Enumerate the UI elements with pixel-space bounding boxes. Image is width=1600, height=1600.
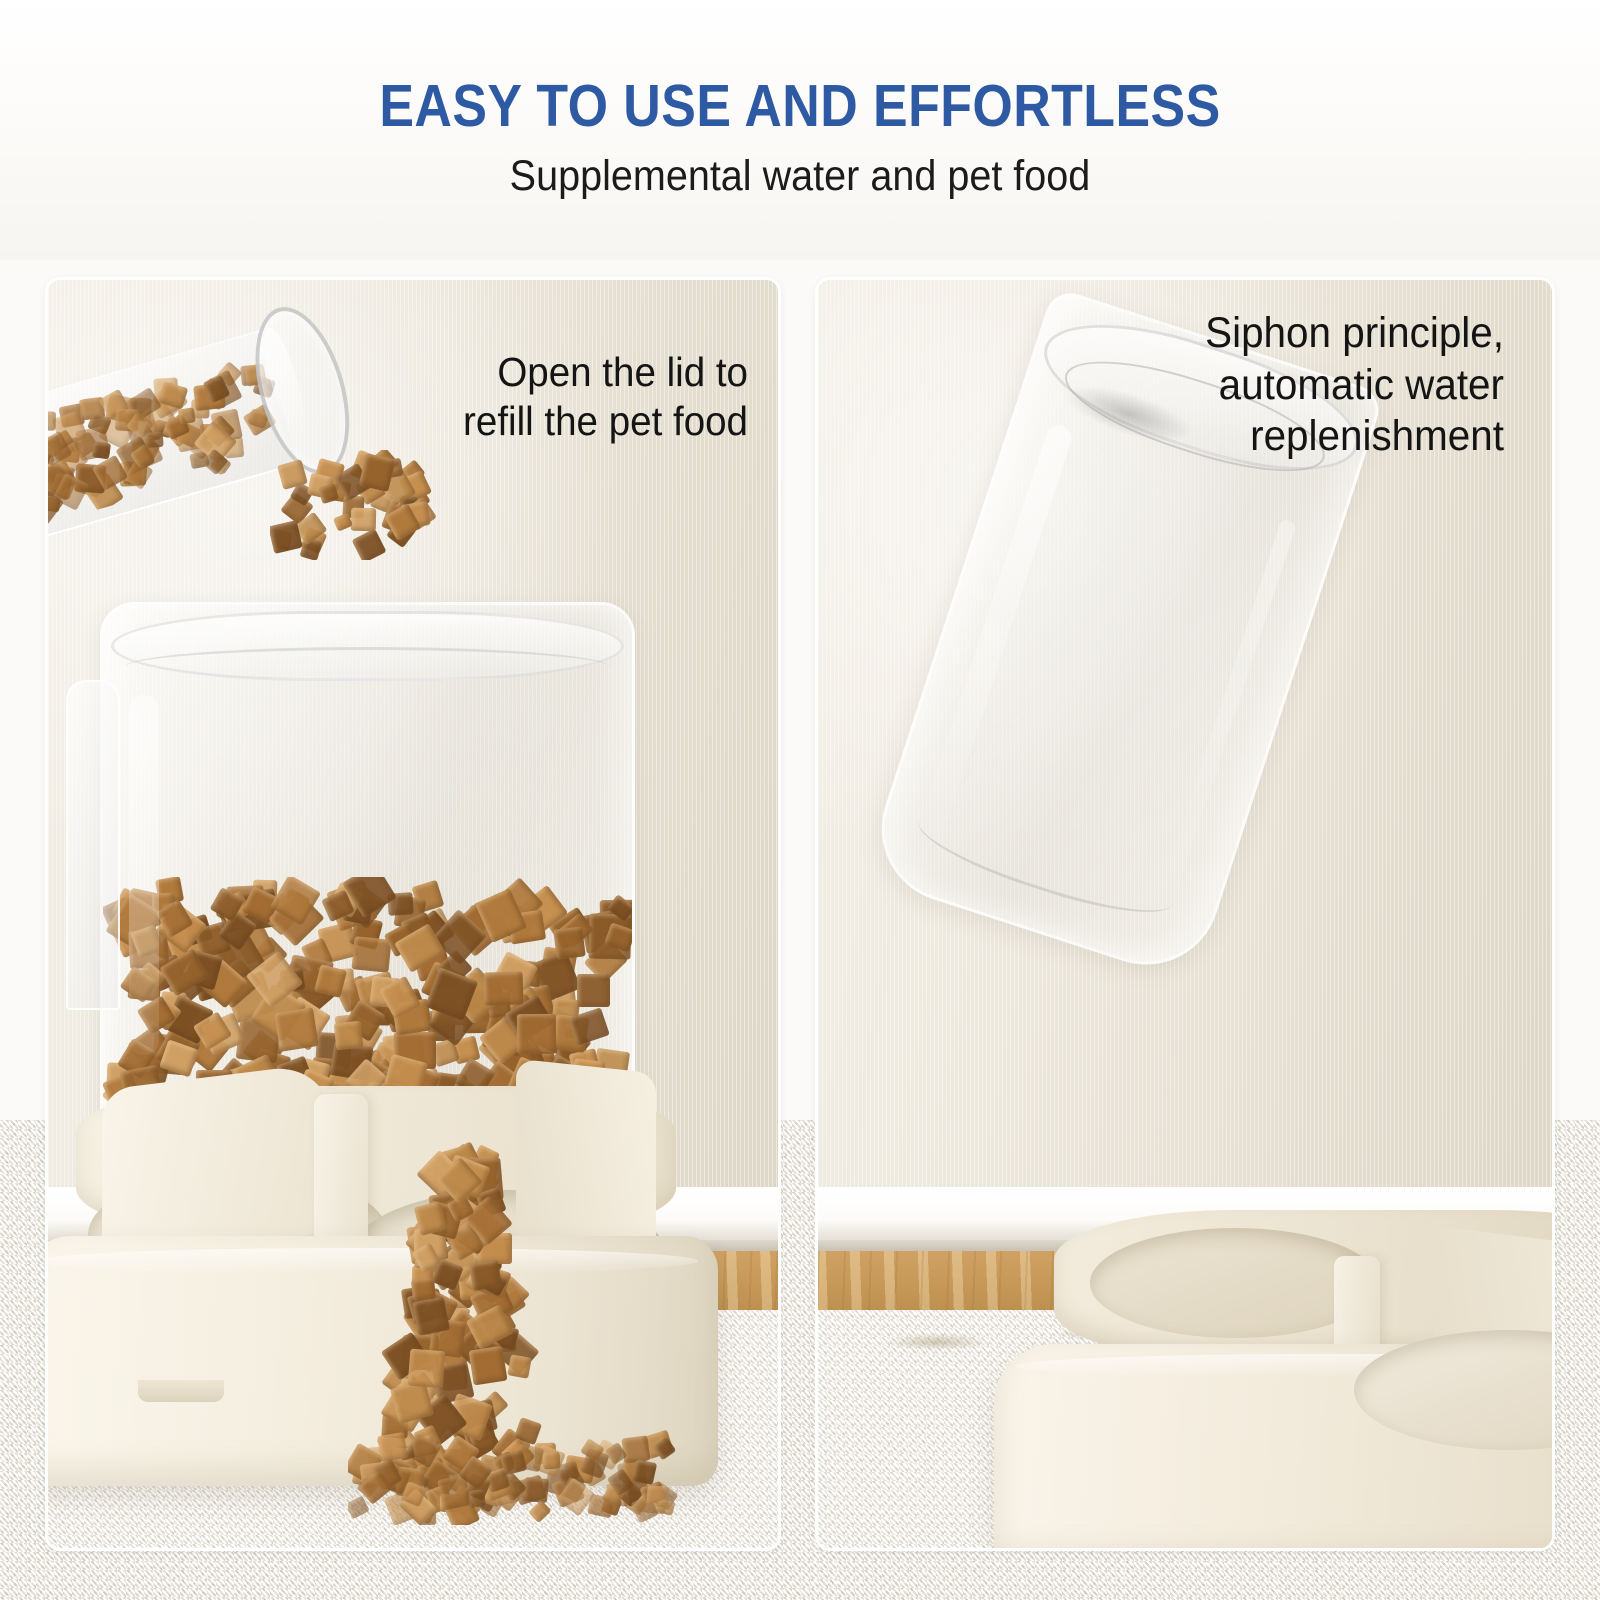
kibble-piece bbox=[542, 1452, 560, 1470]
kibble-piece bbox=[270, 520, 302, 554]
base-lid-tab bbox=[138, 1380, 224, 1402]
feature-panel-water[interactable]: Siphon principle, automatic water replen… bbox=[818, 280, 1552, 1548]
infographic-page: EASY TO USE AND EFFORTLESS Supplemental … bbox=[0, 0, 1600, 1600]
kibble-piece bbox=[334, 1020, 364, 1049]
kibble-piece bbox=[48, 411, 56, 431]
hopper-side-tube bbox=[66, 680, 120, 1010]
kibble-piece bbox=[517, 1014, 556, 1054]
kibble-piece bbox=[523, 1477, 549, 1503]
hopper-highlight bbox=[129, 695, 159, 1055]
kibble-piece bbox=[348, 1496, 370, 1520]
kibble-piece bbox=[577, 974, 610, 1008]
kibble-piece bbox=[351, 508, 376, 531]
feeder-base-right bbox=[1054, 1210, 1552, 1548]
feature-panel-food[interactable]: Open the lid to refill the pet food bbox=[48, 280, 778, 1548]
kibble-piece bbox=[274, 1007, 319, 1052]
page-subtitle: Supplemental water and pet food bbox=[64, 152, 1536, 201]
carpet-shadow-patch bbox=[862, 1329, 1012, 1355]
kibble-piece bbox=[92, 441, 111, 459]
kibble-piece bbox=[407, 1349, 445, 1389]
kibble-piece bbox=[469, 1260, 501, 1291]
page-title: EASY TO USE AND EFFORTLESS bbox=[96, 72, 1504, 140]
kibble-piece bbox=[528, 1500, 551, 1523]
kibble-piece bbox=[553, 926, 586, 959]
spilling-kibble bbox=[270, 450, 440, 560]
header: EASY TO USE AND EFFORTLESS Supplemental … bbox=[0, 0, 1600, 260]
kibble-piece bbox=[631, 1459, 656, 1485]
kibble-piece bbox=[412, 1296, 450, 1335]
kibble-piece bbox=[377, 1432, 407, 1462]
caption-water: Siphon principle, automatic water replen… bbox=[1062, 308, 1504, 463]
kibble-piece bbox=[469, 1346, 508, 1386]
kibble-piece bbox=[351, 936, 391, 972]
kibble-piece bbox=[351, 529, 386, 560]
hopper-inner-rim bbox=[125, 647, 610, 687]
kibble-piece bbox=[145, 432, 164, 448]
kibble-piece bbox=[411, 1278, 435, 1301]
kibble-piece bbox=[507, 1354, 531, 1379]
base-left-wall bbox=[102, 1062, 332, 1260]
caption-food: Open the lid to refill the pet food bbox=[306, 348, 748, 446]
kibble-stream bbox=[348, 1140, 578, 1480]
kibble-piece bbox=[468, 1489, 486, 1508]
kibble-piece bbox=[646, 1486, 669, 1508]
kibble-piece bbox=[484, 972, 524, 1006]
bowl-kibble bbox=[348, 1430, 678, 1525]
